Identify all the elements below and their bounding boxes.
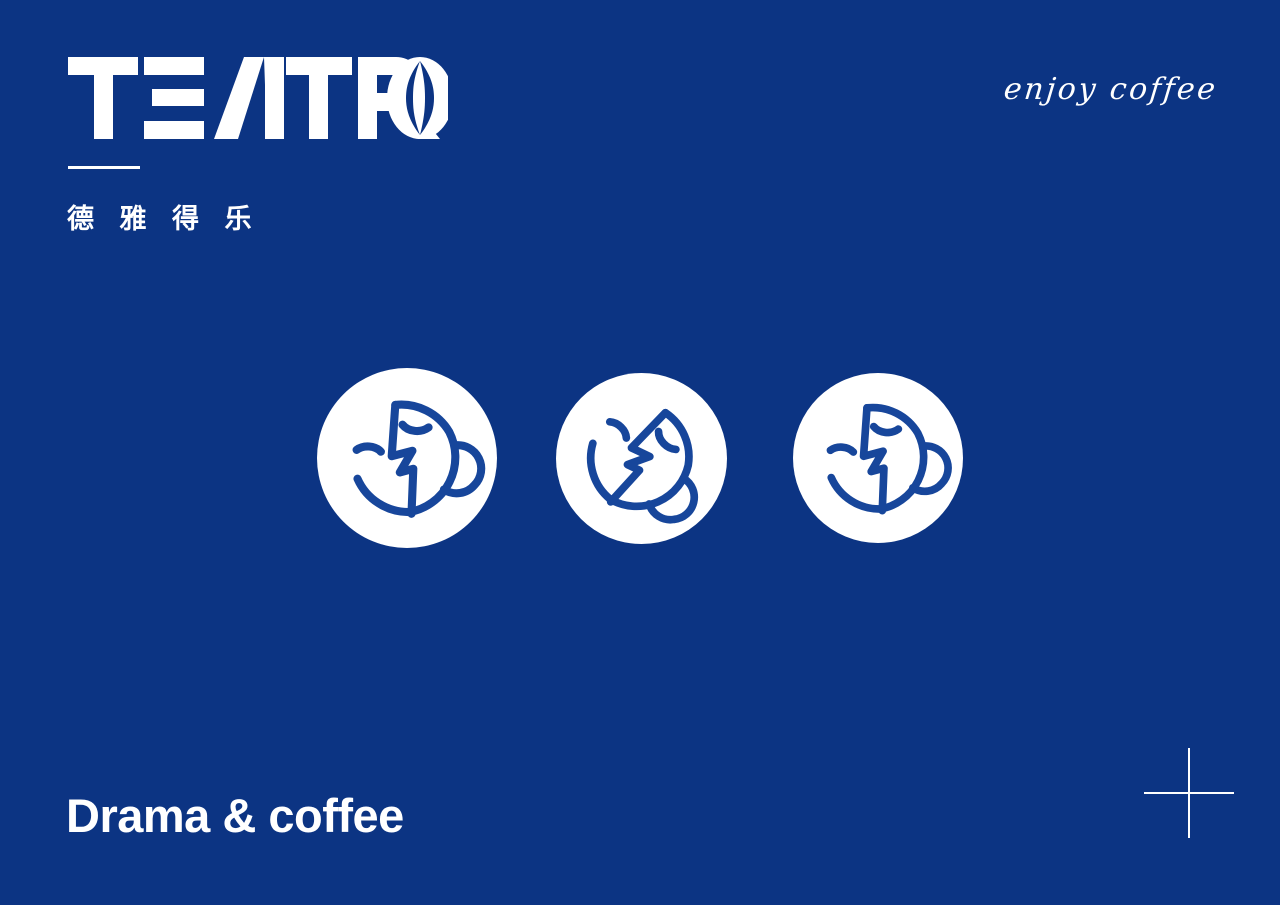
coffee-mask-badge-2[interactable] xyxy=(556,373,727,544)
brand-divider-rule xyxy=(68,166,140,169)
brand-chinese-name: 德 雅 得 乐 xyxy=(67,206,261,233)
brand-wordmark xyxy=(68,57,448,139)
registration-mark-icon xyxy=(1144,748,1234,838)
coffee-mask-badge-3[interactable] xyxy=(793,373,963,543)
coffee-mask-icon-rotated xyxy=(556,373,727,544)
registration-mark-vertical xyxy=(1188,748,1190,838)
footer-title: Drama & coffee xyxy=(66,792,404,839)
coffee-mask-icon-upright-small xyxy=(793,373,963,543)
coffee-mask-icon-upright-large xyxy=(317,368,497,548)
teatro-wordmark-graphic xyxy=(68,57,448,139)
poster-canvas: 德 雅 得 乐 enjoy coffee xyxy=(0,0,1280,905)
coffee-mask-badge-1[interactable] xyxy=(317,368,497,548)
tagline-enjoy-coffee: enjoy coffee xyxy=(1003,72,1220,107)
